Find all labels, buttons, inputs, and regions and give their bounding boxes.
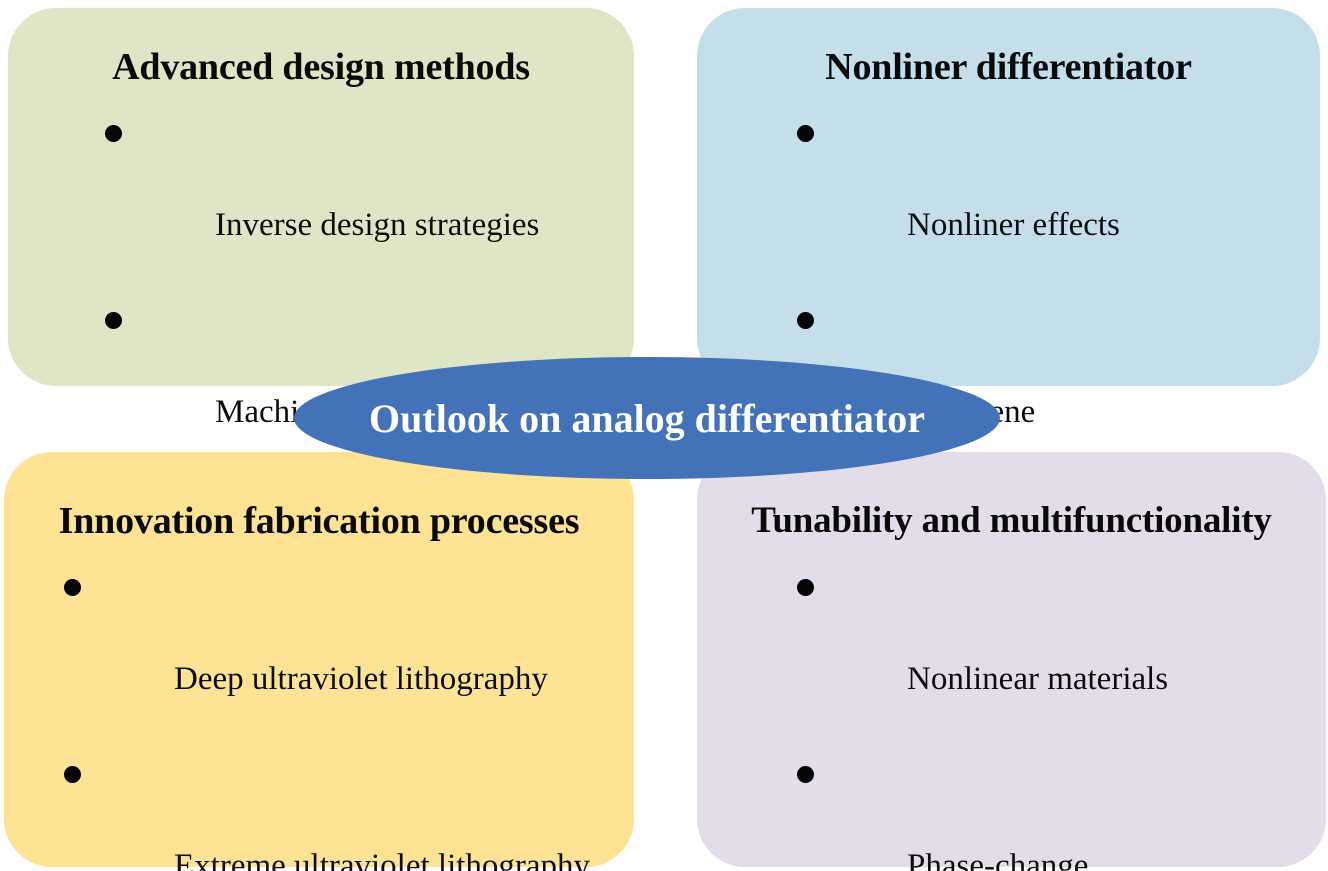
center-ellipse-outlook: Outlook on analog differentiator <box>294 357 1000 479</box>
list-item-label: Nonlinear materials <box>907 661 1168 697</box>
list-item-label: Deep ultraviolet lithography <box>174 661 548 697</box>
bullet-dot-icon <box>797 579 814 596</box>
quadrant-tunability-and-multifunctionality: Tunability and multifunctionality Nonlin… <box>697 452 1326 867</box>
list-item: Deep ultraviolet lithography <box>64 562 590 749</box>
center-ellipse-label: Outlook on analog differentiator <box>369 395 925 442</box>
list-item-label: Extreme ultraviolet lithography <box>174 848 590 871</box>
bullet-dot-icon <box>64 766 81 783</box>
list-item: Nonliner effects <box>797 108 1203 295</box>
list-item: Phase-change materials <box>797 749 1217 871</box>
list-item-label: Nonliner effects <box>907 207 1120 243</box>
bullet-dot-icon <box>797 312 814 329</box>
quadrant-nonliner-differentiator: Nonliner differentiator Nonliner effects… <box>697 8 1320 386</box>
quadrant-title-nonliner-differentiator: Nonliner differentiator <box>697 48 1320 88</box>
bullet-list-innovation-fabrication-processes: Deep ultraviolet lithography Extreme ult… <box>64 562 590 871</box>
quadrant-title-advanced-design-methods: Advanced design methods <box>8 48 634 88</box>
quadrant-advanced-design-methods: Advanced design methods Inverse design s… <box>8 8 634 386</box>
bullet-list-tunability-and-multifunctionality: Nonlinear materials Phase-change materia… <box>797 562 1217 871</box>
bullet-dot-icon <box>64 579 81 596</box>
bullet-dot-icon <box>105 125 122 142</box>
list-item-label: Phase-change materials <box>841 848 1097 871</box>
quadrant-innovation-fabrication-processes: Innovation fabrication processes Deep ul… <box>4 452 634 867</box>
outlook-diagram: Advanced design methods Inverse design s… <box>0 0 1328 871</box>
list-item: Extreme ultraviolet lithography <box>64 749 590 871</box>
bullet-dot-icon <box>797 766 814 783</box>
list-item: Nonlinear materials <box>797 562 1217 749</box>
bullet-dot-icon <box>797 125 814 142</box>
quadrant-title-innovation-fabrication-processes: Innovation fabrication processes <box>4 502 634 542</box>
list-item-label: Inverse design strategies <box>215 207 539 243</box>
list-item: Inverse design strategies <box>105 108 539 295</box>
quadrant-title-tunability-and-multifunctionality: Tunability and multifunctionality <box>697 502 1326 541</box>
bullet-dot-icon <box>105 312 122 329</box>
